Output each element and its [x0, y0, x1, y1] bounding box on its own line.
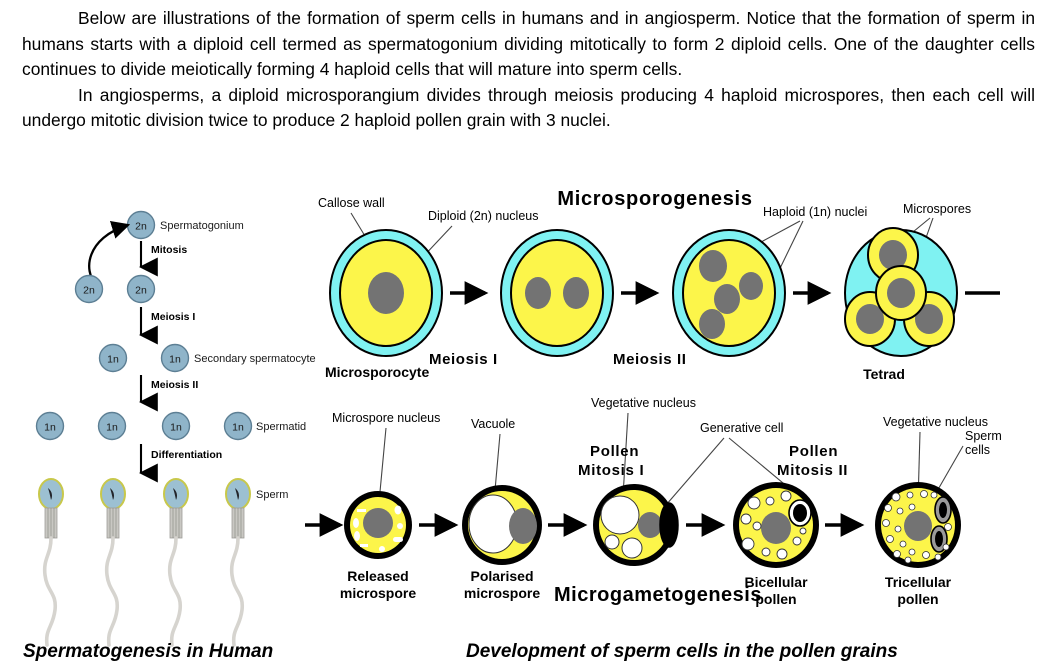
- vacuole: [601, 496, 639, 534]
- vacuole-small: [900, 541, 906, 547]
- vacuole-small: [894, 551, 901, 558]
- haploid-nucleus: [699, 250, 727, 282]
- label-callose-wall: Callose wall: [318, 196, 385, 210]
- stage-microsporocyte: [330, 230, 442, 356]
- cell-label-spermatid-4: 1n: [232, 422, 244, 434]
- haploid-nucleus: [714, 284, 740, 314]
- sperm-cell-4: [226, 479, 250, 645]
- microspore-nucleus-polarised: [509, 508, 537, 544]
- cell-label-spermatid-1: 1n: [44, 422, 56, 434]
- label-haploid-nuclei: Haploid (1n) nuclei: [763, 205, 867, 219]
- sperm-cell-1: [39, 479, 63, 645]
- label-microspore-nucleus: Microspore nucleus: [332, 411, 440, 425]
- vacuole-small: [923, 552, 930, 559]
- cell-daughter-right: 2n: [128, 276, 155, 303]
- label-tricellular-pollen-1: Tricellular: [885, 574, 952, 590]
- leader-sperm-cells: [936, 446, 963, 493]
- cell-label-spermatid-2: 1n: [106, 422, 118, 434]
- cell-secondary-left: 1n: [100, 345, 127, 372]
- vacuole-small: [907, 492, 913, 498]
- cell-spermatid-1: 1n: [37, 413, 64, 440]
- label-diploid-nucleus: Diploid (2n) nucleus: [428, 209, 538, 223]
- stage-tricellular-pollen: [875, 482, 961, 568]
- haploid-nucleus: [563, 277, 589, 309]
- label-sperm-cells-line2: cells: [965, 443, 990, 457]
- label-vegetative-nucleus: Vegetative nucleus: [591, 396, 696, 410]
- microsporogenesis-diagram: Microsporogenesis Callose wall Diploid (…: [318, 188, 1000, 382]
- organelle: [393, 537, 403, 542]
- title-microgametogenesis: Microgametogenesis: [554, 584, 762, 606]
- label-bicellular-pollen-1: Bicellular: [744, 574, 808, 590]
- self-renewal-arrow: [89, 225, 128, 284]
- haploid-nucleus: [525, 277, 551, 309]
- label-meiosis-ii-plant: Meiosis II: [613, 351, 687, 368]
- vacuole-small: [895, 526, 901, 532]
- cell-label-secondary-left: 1n: [107, 354, 119, 366]
- cell-label-secondary-right: 1n: [169, 354, 181, 366]
- vacuole-small: [793, 537, 801, 545]
- leader-generative-cell: [666, 438, 724, 505]
- stage-polarised-microspore: [462, 485, 542, 565]
- vacuole-small: [909, 549, 915, 555]
- vacuole-small: [762, 548, 770, 556]
- vacuole-small: [622, 538, 642, 558]
- vacuole-small: [943, 544, 949, 550]
- organelle: [360, 544, 368, 547]
- cell-spermatogonium: 2n: [128, 212, 155, 239]
- label-tetrad: Tetrad: [863, 366, 905, 382]
- label-polarised-microspore-2: microspore: [464, 585, 540, 601]
- label-released-microspore-2: microspore: [340, 585, 416, 601]
- stage-tetrad: [845, 228, 957, 356]
- figure-container: 2n Spermatogonium Mitosis 2n 2n Meiosis …: [0, 183, 1057, 670]
- vacuole-small: [800, 528, 806, 534]
- intro-prose: Below are illustrations of the formation…: [0, 0, 1057, 134]
- caption-left: Spermatogenesis in Human: [23, 641, 273, 662]
- vacuole-small: [897, 508, 903, 514]
- cell-label-spermatid-3: 1n: [170, 422, 182, 434]
- label-sperm-cells-line1: Sperm: [965, 429, 1002, 443]
- title-microsporogenesis: Microsporogenesis: [557, 188, 752, 210]
- vegetative-nucleus: [638, 512, 662, 538]
- label-sperm: Sperm: [256, 489, 288, 501]
- generative-cell: [660, 503, 678, 547]
- human-spermatogenesis-diagram: 2n Spermatogonium Mitosis 2n 2n Meiosis …: [23, 212, 316, 663]
- vacuole-small: [883, 520, 890, 527]
- vacuole-small: [887, 536, 894, 543]
- generative-cell-bi: [789, 500, 811, 526]
- microgametogenesis-diagram: Microgametogenesis Microspore nucleus Va…: [305, 396, 1002, 662]
- vacuole-small: [748, 497, 760, 509]
- organelle: [357, 509, 366, 512]
- stage-released-microspore: [344, 491, 412, 559]
- label-differentiation: Differentiation: [151, 449, 222, 461]
- label-meiosis-i: Meiosis I: [151, 311, 195, 323]
- vacuole-small: [921, 491, 928, 498]
- label-released-microspore-1: Released: [347, 568, 408, 584]
- organelle: [379, 546, 385, 552]
- prose-paragraph-1: Below are illustrations of the formation…: [22, 6, 1035, 83]
- cytoplasm-2: [511, 240, 603, 346]
- cell-spermatid-2: 1n: [99, 413, 126, 440]
- label-tricellular-pollen-2: pollen: [897, 591, 938, 607]
- organelle: [353, 518, 359, 528]
- prose-paragraph-2: In angiosperms, a diploid microsporangiu…: [22, 83, 1035, 134]
- organelle: [354, 531, 360, 541]
- vacuole-small: [935, 554, 941, 560]
- vacuole-small: [909, 504, 915, 510]
- organelle: [395, 506, 402, 515]
- vegetative-nucleus-tri: [904, 511, 932, 541]
- sperm-cell-3: [164, 479, 188, 645]
- diploid-nucleus: [368, 272, 404, 314]
- label-vacuole: Vacuole: [471, 417, 515, 431]
- microspore-nucleus: [363, 508, 393, 538]
- label-microsporocyte: Microsporocyte: [325, 364, 429, 380]
- label-microspores: Microspores: [903, 202, 971, 216]
- sperm-cell-upper: [935, 497, 951, 523]
- label-pollen-mitosis-i-2: Mitosis I: [578, 462, 644, 479]
- stage-after-pollen-mitosis-i: [593, 484, 678, 566]
- vegetative-nucleus-bi: [761, 512, 791, 544]
- label-pollen-mitosis-ii-1: Pollen: [789, 443, 838, 460]
- stage-bicellular-pollen: [733, 482, 819, 568]
- vacuole-small: [905, 557, 911, 563]
- vacuole-small: [741, 514, 751, 524]
- haploid-nucleus: [699, 309, 725, 339]
- organelle: [397, 523, 403, 529]
- vacuole-small: [777, 549, 787, 559]
- cell-label-daughter-right: 2n: [135, 285, 147, 297]
- vacuole-small: [605, 535, 619, 549]
- vacuole-small: [931, 492, 937, 498]
- label-meiosis-ii: Meiosis II: [151, 379, 198, 391]
- label-pollen-mitosis-ii-2: Mitosis II: [777, 462, 848, 479]
- label-pollen-mitosis-i-1: Pollen: [590, 443, 639, 460]
- label-generative-cell: Generative cell: [700, 421, 783, 435]
- vacuole-small: [742, 538, 754, 550]
- vacuole-small: [885, 505, 892, 512]
- label-polarised-microspore-1: Polarised: [470, 568, 533, 584]
- label-meiosis-i-plant: Meiosis I: [429, 351, 498, 368]
- cell-spermatid-3: 1n: [163, 413, 190, 440]
- caption-right: Development of sperm cells in the pollen…: [466, 641, 898, 662]
- vacuole-small: [892, 493, 900, 501]
- haploid-nucleus: [739, 272, 763, 300]
- cell-label-daughter-left: 2n: [83, 285, 95, 297]
- label-secondary-spermatocyte: Secondary spermatocyte: [194, 353, 316, 365]
- label-spermatid: Spermatid: [256, 421, 306, 433]
- cell-daughter-left: 2n: [76, 276, 103, 303]
- sperm-cell-2: [101, 479, 125, 645]
- vacuole-small: [781, 491, 791, 501]
- cell-spermatid-4: 1n: [225, 413, 252, 440]
- label-bicellular-pollen-2: pollen: [755, 591, 796, 607]
- cell-label-spermatogonium: 2n: [135, 221, 147, 233]
- stage-tetrad-nuclei: [673, 230, 785, 356]
- cell-secondary-right: 1n: [162, 345, 189, 372]
- label-mitosis: Mitosis: [151, 244, 187, 256]
- label-vegetative-nucleus-2: Vegetative nucleus: [883, 415, 988, 429]
- microspore-center: [876, 266, 926, 320]
- vacuole-small: [766, 497, 774, 505]
- label-spermatogonium: Spermatogonium: [160, 220, 244, 232]
- vacuole-small: [753, 522, 761, 530]
- vacuole-small: [945, 524, 952, 531]
- stage-dyad: [501, 230, 613, 356]
